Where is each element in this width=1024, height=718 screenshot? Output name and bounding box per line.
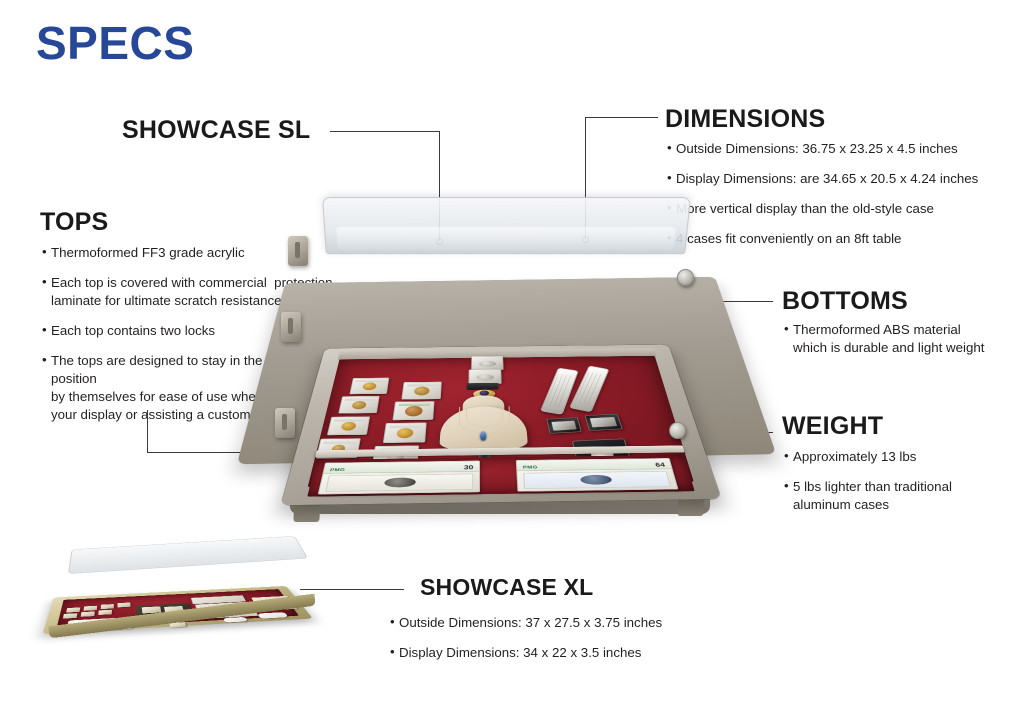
graded-coin-slab bbox=[401, 382, 442, 400]
pmg-logo: PMG bbox=[330, 468, 346, 473]
dimensions-heading: DIMENSIONS bbox=[665, 107, 825, 132]
coin bbox=[414, 387, 430, 396]
showcase-xl-bullet-list: •Outside Dimensions: 37 x 27.5 x 3.75 in… bbox=[390, 614, 690, 674]
banknote-portrait bbox=[384, 478, 417, 488]
bullet-marker: • bbox=[42, 274, 51, 310]
bullet-marker: • bbox=[667, 170, 676, 188]
xl-display-item bbox=[98, 610, 112, 615]
banknote-face bbox=[326, 474, 473, 492]
banknote-grade: 30 bbox=[464, 464, 474, 470]
list-item: •Approximately 13 lbs bbox=[784, 448, 1004, 466]
silver-bar-small bbox=[585, 414, 623, 431]
xl-display-item bbox=[66, 607, 80, 612]
banknote-grade: 64 bbox=[655, 462, 666, 468]
xl-display-item bbox=[81, 611, 95, 616]
showcase-sl-product-photo: PMG 30 PMG 64 bbox=[268, 196, 738, 526]
weight-bullet-list: •Approximately 13 lbs •5 lbs lighter tha… bbox=[784, 448, 1004, 526]
necklace-pendant bbox=[480, 431, 486, 441]
case-hinge-upper bbox=[288, 236, 308, 266]
bullet-marker: • bbox=[784, 478, 793, 514]
graded-coin-slab bbox=[349, 378, 389, 395]
graded-coin-slab bbox=[383, 423, 427, 444]
xl-acrylic-lid bbox=[68, 536, 308, 574]
graded-banknote: PMG 30 bbox=[318, 461, 480, 495]
showcase-xl-heading: SHOWCASE XL bbox=[420, 576, 593, 599]
pmg-logo: PMG bbox=[523, 465, 538, 470]
list-item: •Outside Dimensions: 36.75 x 23.25 x 4.5… bbox=[667, 140, 987, 158]
weight-heading: WEIGHT bbox=[782, 414, 883, 439]
bottoms-heading: BOTTOMS bbox=[782, 289, 908, 314]
leader-line-dimensions-horizontal bbox=[585, 117, 658, 118]
bullet-marker: • bbox=[784, 321, 793, 357]
coin bbox=[351, 401, 366, 409]
leader-line-showcase-sl-horizontal bbox=[330, 131, 440, 132]
bullet-marker: • bbox=[667, 140, 676, 158]
list-item: •Outside Dimensions: 37 x 27.5 x 3.75 in… bbox=[390, 614, 690, 632]
bullet-marker: • bbox=[784, 448, 793, 466]
bullet-marker: • bbox=[390, 614, 399, 632]
coin bbox=[404, 406, 423, 417]
graded-coin-slab bbox=[338, 396, 379, 414]
bullet-marker: • bbox=[390, 644, 399, 662]
tops-heading: TOPS bbox=[40, 210, 108, 235]
slab-label bbox=[323, 440, 356, 443]
list-item: •5 lbs lighter than traditional aluminum… bbox=[784, 478, 1004, 514]
list-item: •Display Dimensions: are 34.65 x 20.5 x … bbox=[667, 170, 987, 188]
banknote-bay: PMG 30 PMG 64 bbox=[307, 455, 694, 497]
case-latch-lower-right bbox=[669, 422, 686, 439]
bullet-marker: • bbox=[42, 244, 51, 262]
coin bbox=[396, 428, 413, 438]
bottoms-bullet-list: •Thermoformed ABS material which is dura… bbox=[784, 321, 1004, 369]
page-title: SPECS bbox=[36, 20, 194, 66]
case-latch-upper-right bbox=[677, 269, 694, 286]
pmg-label-bar bbox=[323, 461, 479, 474]
case-hinge-lower bbox=[275, 408, 295, 438]
xl-display-item bbox=[63, 613, 78, 618]
case-tray: PMG 30 PMG 64 bbox=[281, 345, 721, 505]
showcase-sl-heading: SHOWCASE SL bbox=[122, 118, 310, 143]
coin bbox=[362, 383, 377, 391]
banknote-face bbox=[524, 471, 671, 489]
coin bbox=[341, 422, 357, 431]
xl-display-item bbox=[84, 606, 98, 611]
banknote-portrait bbox=[580, 475, 613, 485]
showcase-xl-product-photo bbox=[40, 518, 330, 638]
bullet-marker: • bbox=[42, 352, 51, 424]
bar-engraving bbox=[575, 372, 604, 405]
bar-engraving bbox=[546, 374, 574, 407]
case-hinge-mid bbox=[281, 312, 301, 342]
graded-banknote: PMG 64 bbox=[516, 458, 679, 492]
silver-bar-small bbox=[546, 417, 581, 433]
graded-coin-slab bbox=[327, 416, 370, 435]
xl-display-item bbox=[101, 604, 114, 609]
pmg-label-bar bbox=[517, 459, 672, 472]
acrylic-lid bbox=[322, 197, 691, 254]
bullet-marker: • bbox=[42, 322, 51, 340]
list-item: •Thermoformed ABS material which is dura… bbox=[784, 321, 1004, 357]
graded-coin-slab bbox=[392, 401, 434, 420]
xl-display-item bbox=[118, 602, 131, 607]
list-item: •Display Dimensions: 34 x 22 x 3.5 inche… bbox=[390, 644, 690, 662]
leader-line-tops-vertical bbox=[147, 410, 148, 453]
